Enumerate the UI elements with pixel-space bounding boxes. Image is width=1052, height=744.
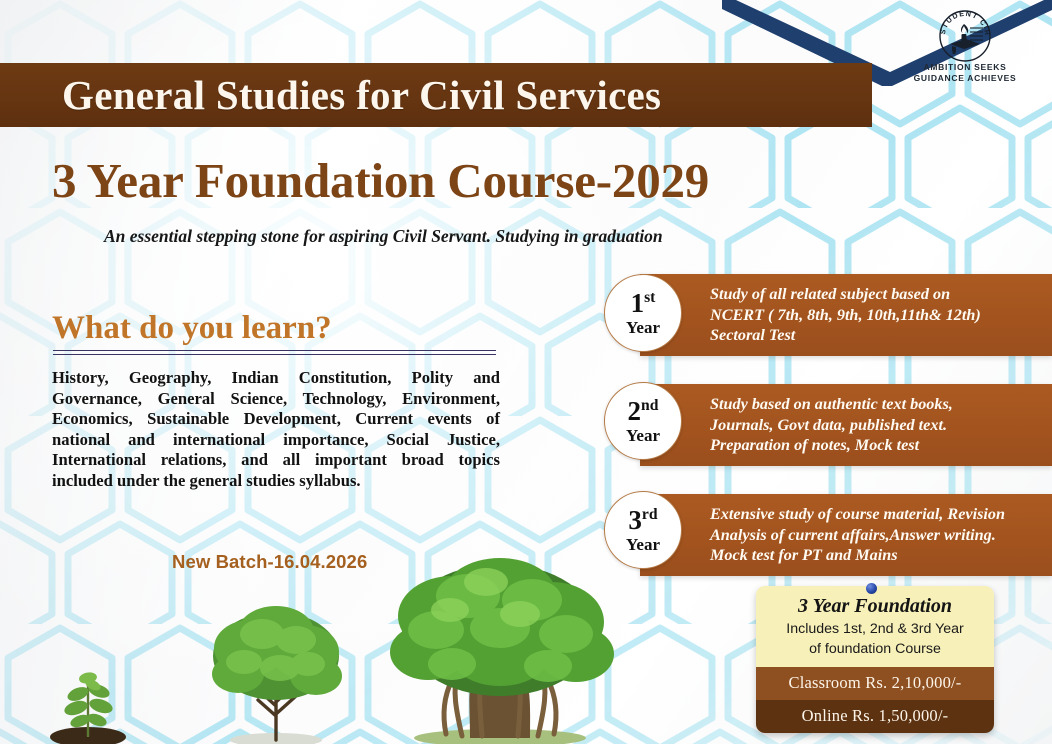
logo-tagline-2: GUIDANCE ACHIEVES [890, 73, 1040, 84]
year-2-line-1: Study based on authentic text books, [710, 395, 953, 413]
learn-divider [53, 350, 496, 355]
three-growing-trees-icon [0, 544, 660, 744]
price-card-header: 3 Year Foundation Includes 1st, 2nd & 3r… [756, 586, 994, 667]
page-title: General Studies for Civil Services [62, 71, 661, 119]
year-panel-2: Study based on authentic text books, Jou… [640, 384, 1052, 466]
year-1-line-2-pre: NCERT ( [710, 306, 777, 324]
year-panel-3: Extensive study of course material, Revi… [640, 494, 1052, 576]
title-bar: General Studies for Civil Services [0, 63, 872, 127]
year-badge-3-label: Year [626, 536, 660, 553]
year-panel-2-text: Study based on authentic text books, Jou… [710, 394, 961, 456]
year-badge-3: 3rd Year [604, 491, 682, 569]
price-card-sub-2: of foundation Course [762, 640, 988, 658]
price-card-sub-1: Includes 1st, 2nd & 3rd Year [762, 620, 988, 638]
price-online: Online Rs. 1,50,000/- [756, 700, 994, 733]
year-3-line-1: Extensive study of course material, Revi… [710, 505, 1005, 523]
year-badge-2: 2nd Year [604, 382, 682, 460]
course-headline: 3 Year Foundation Course-2029 [52, 152, 709, 209]
year-panel-1: Study of all related subject based on NC… [640, 274, 1052, 356]
course-subhead: An essential stepping stone for aspiring… [104, 226, 663, 247]
year-panel-1-text: Study of all related subject based on NC… [710, 284, 989, 346]
year-2-line-2: Journals, Govt data, published text. [710, 416, 947, 434]
year-3-line-2: Analysis of current affairs,Answer writi… [710, 526, 996, 544]
price-card-title: 3 Year Foundation [762, 594, 988, 618]
year-badge-2-label: Year [626, 427, 660, 444]
year-badge-3-number: 3rd [628, 507, 657, 534]
price-classroom: Classroom Rs. 2,10,000/- [756, 667, 994, 700]
blue-dot-pin-icon [866, 583, 877, 594]
year-badge-2-number: 2nd [628, 398, 659, 425]
year-1-line-3: Sectoral Test [710, 326, 795, 344]
student-circle-emblem-icon: STUDENT CIRCLE [890, 6, 1040, 66]
year-3-line-3: Mock test for PT and Mains [710, 546, 898, 564]
year-badge-1-number: 1st [631, 290, 656, 317]
price-card: 3 Year Foundation Includes 1st, 2nd & 3r… [756, 586, 994, 733]
year-badge-1: 1st Year [604, 274, 682, 352]
brand-logo: STUDENT CIRCLE AMBITION SEEKS GUIDANCE A… [890, 6, 1040, 92]
year-1-line-1: Study of all related subject based on [710, 285, 950, 303]
learn-section-title: What do you learn? [52, 310, 332, 347]
year-1-line-2-items: 7th, 8th, 9th, 10th,11th& 12th) [777, 306, 980, 324]
poster-root: STUDENT CIRCLE AMBITION SEEKS GUIDANCE A… [0, 0, 1052, 744]
year-2-line-3: Preparation of notes, Mock test [710, 436, 919, 454]
logo-tagline-1: AMBITION SEEKS [890, 62, 1040, 73]
year-badge-1-label: Year [626, 319, 660, 336]
year-panel-3-text: Extensive study of course material, Revi… [710, 504, 1013, 566]
learn-section-body: History, Geography, Indian Constitution,… [52, 368, 500, 492]
